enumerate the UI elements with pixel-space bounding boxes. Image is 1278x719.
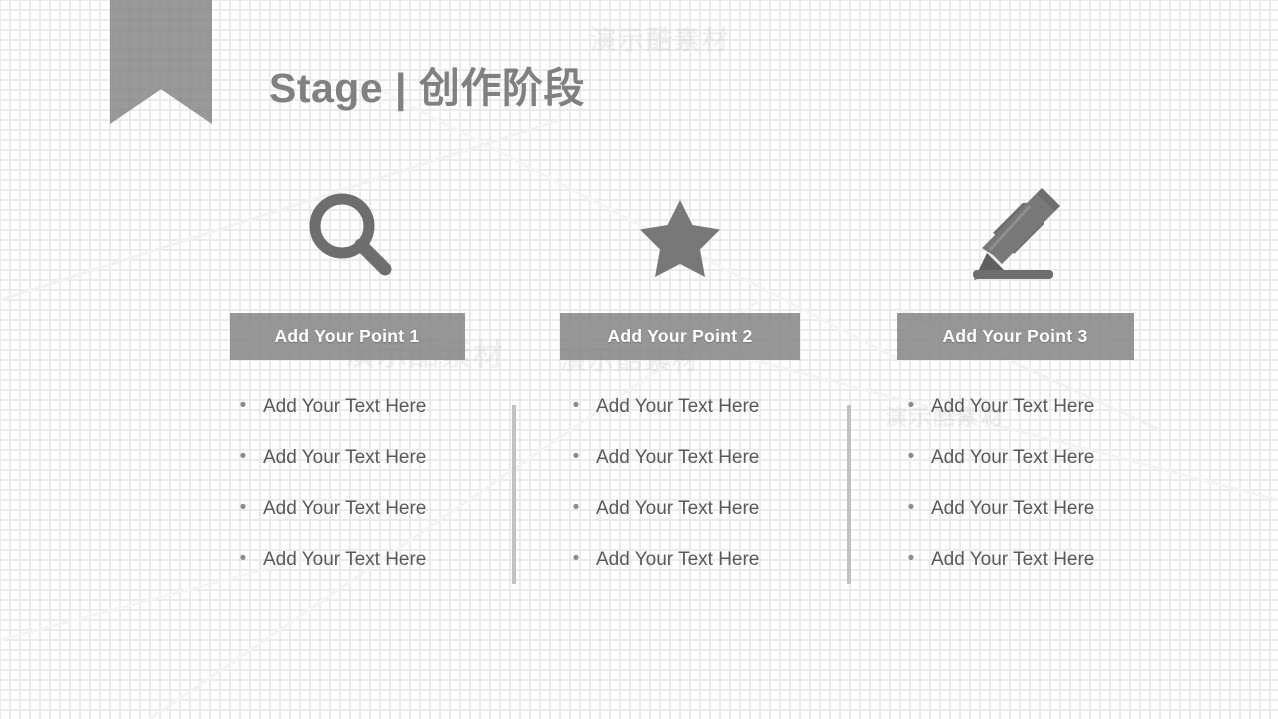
list-item[interactable]: • Add Your Text Here [904, 499, 1185, 550]
list-item-label: Add Your Text Here [596, 397, 759, 416]
bullet-dot-icon: • [236, 499, 250, 517]
bullet-dot-icon: • [569, 550, 583, 568]
icon-container [510, 180, 850, 288]
list-item-label: Add Your Text Here [263, 550, 426, 569]
list-item-label: Add Your Text Here [596, 499, 759, 518]
list-item[interactable]: • Add Your Text Here [569, 499, 850, 550]
point-banner-label: Add Your Point 1 [274, 326, 419, 347]
icon-container [845, 180, 1185, 288]
bullet-dot-icon: • [569, 499, 583, 517]
bullet-dot-icon: • [236, 448, 250, 466]
bullet-list-2: • Add Your Text Here • Add Your Text Her… [510, 397, 850, 601]
list-item[interactable]: • Add Your Text Here [904, 448, 1185, 499]
bullet-dot-icon: • [904, 550, 918, 568]
bullet-list-3: • Add Your Text Here • Add Your Text Her… [845, 397, 1185, 601]
bullet-dot-icon: • [236, 550, 250, 568]
list-item[interactable]: • Add Your Text Here [569, 550, 850, 601]
bullet-list-1: • Add Your Text Here • Add Your Text Her… [177, 397, 517, 601]
content-column-1: Add Your Point 1 • Add Your Text Here • … [177, 180, 517, 617]
list-item[interactable]: • Add Your Text Here [569, 397, 850, 448]
star-icon [630, 184, 730, 284]
point-banner-label: Add Your Point 3 [942, 326, 1087, 347]
bullet-dot-icon: • [236, 397, 250, 415]
list-item[interactable]: • Add Your Text Here [569, 448, 850, 499]
list-item-label: Add Your Text Here [931, 550, 1094, 569]
list-item-label: Add Your Text Here [931, 448, 1094, 467]
magnifier-icon [297, 184, 397, 284]
content-column-2: Add Your Point 2 • Add Your Text Here • … [510, 180, 850, 617]
page-title: Stage | 创作阶段 [269, 54, 585, 114]
column-divider [512, 405, 516, 584]
list-item[interactable]: • Add Your Text Here [904, 397, 1185, 448]
content-column-3: Add Your Point 3 • Add Your Text Here • … [845, 180, 1185, 617]
list-item-label: Add Your Text Here [931, 499, 1094, 518]
list-item-label: Add Your Text Here [596, 550, 759, 569]
list-item[interactable]: • Add Your Text Here [236, 397, 517, 448]
column-divider [847, 405, 851, 584]
bullet-dot-icon: • [904, 499, 918, 517]
point-banner-1[interactable]: Add Your Point 1 [230, 313, 465, 360]
pencil-icon [960, 184, 1070, 284]
list-item-label: Add Your Text Here [596, 448, 759, 467]
point-banner-3[interactable]: Add Your Point 3 [897, 313, 1134, 360]
list-item-label: Add Your Text Here [263, 448, 426, 467]
list-item[interactable]: • Add Your Text Here [236, 550, 517, 601]
slide-canvas: 演示酷素材 演示酷素材 演示酷素材 演示酷素材 Stage | 创作阶段 Add… [0, 0, 1278, 719]
list-item-label: Add Your Text Here [263, 397, 426, 416]
icon-container [177, 180, 517, 288]
list-item-label: Add Your Text Here [931, 397, 1094, 416]
bullet-dot-icon: • [904, 397, 918, 415]
bullet-dot-icon: • [904, 448, 918, 466]
list-item[interactable]: • Add Your Text Here [904, 550, 1185, 601]
list-item-label: Add Your Text Here [263, 499, 426, 518]
point-banner-2[interactable]: Add Your Point 2 [560, 313, 800, 360]
bullet-dot-icon: • [569, 448, 583, 466]
bullet-dot-icon: • [569, 397, 583, 415]
list-item[interactable]: • Add Your Text Here [236, 499, 517, 550]
point-banner-label: Add Your Point 2 [607, 326, 752, 347]
list-item[interactable]: • Add Your Text Here [236, 448, 517, 499]
